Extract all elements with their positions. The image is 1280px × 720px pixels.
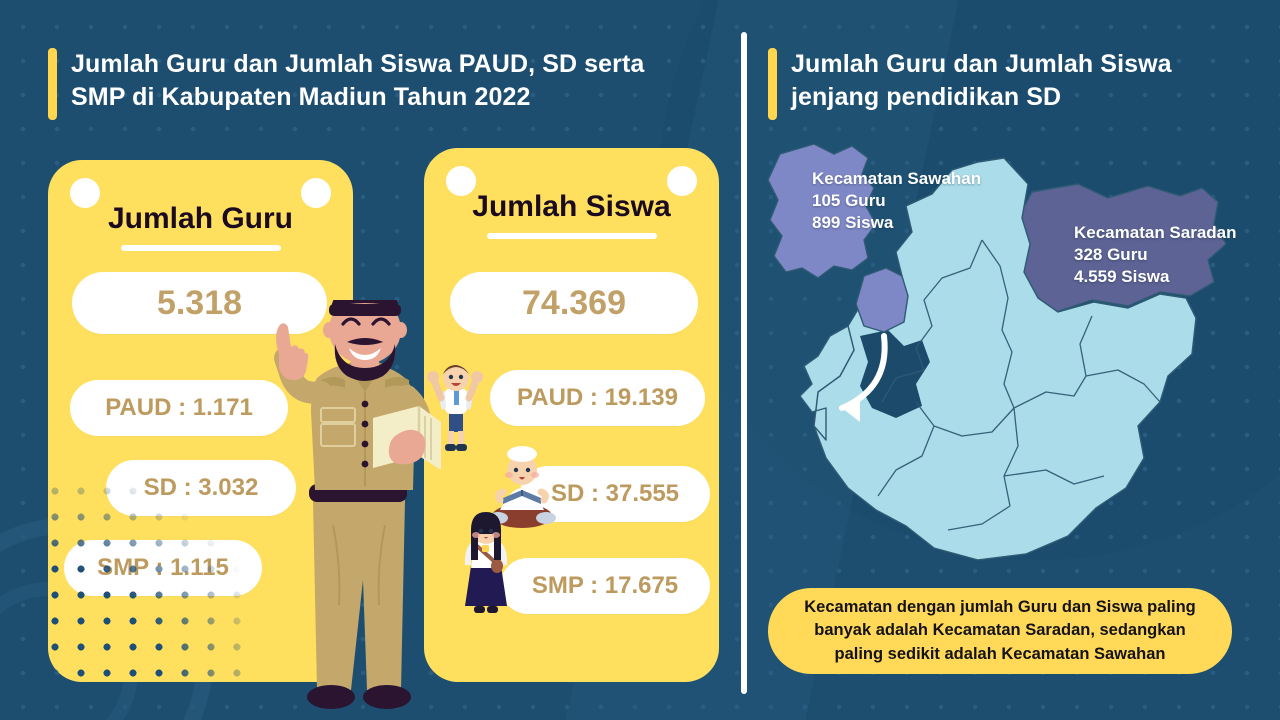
siswa-total-value: 74.369 — [450, 272, 698, 334]
map-label-saradan: Kecamatan Saradan 328 Guru 4.559 Siswa — [1074, 222, 1237, 288]
summary-note-text: Kecamatan dengan jumlah Guru dan Siswa p… — [804, 596, 1196, 666]
title-accent-bar — [48, 48, 57, 120]
left-panel-title: Jumlah Guru dan Jumlah Siswa PAUD, SD se… — [48, 48, 728, 120]
siswa-smp-value: SMP : 17.675 — [500, 558, 710, 614]
siswa-paud-value: PAUD : 19.139 — [490, 370, 705, 426]
title-accent-bar — [768, 48, 777, 120]
guru-smp-value: SMP : 1.115 — [64, 540, 262, 596]
card-guru-underline — [121, 245, 281, 251]
card-guru-heading: Jumlah Guru — [48, 202, 353, 236]
card-siswa-header: Jumlah Siswa — [424, 190, 719, 239]
map-kabupaten-madiun: Kecamatan Sawahan 105 Guru 899 Siswa Kec… — [756, 140, 1256, 570]
card-siswa-underline — [487, 233, 657, 239]
summary-note-box: Kecamatan dengan jumlah Guru dan Siswa p… — [768, 588, 1232, 674]
map-label-sawahan: Kecamatan Sawahan 105 Guru 899 Siswa — [812, 168, 981, 234]
right-panel-title: Jumlah Guru dan Jumlah Siswa jenjang pen… — [768, 48, 1238, 120]
infographic-canvas: Jumlah Guru dan Jumlah Siswa PAUD, SD se… — [0, 0, 1280, 720]
panel-divider — [741, 32, 747, 694]
card-guru-header: Jumlah Guru — [48, 202, 353, 251]
teacher-illustration — [255, 300, 485, 720]
right-title-text: Jumlah Guru dan Jumlah Siswa jenjang pen… — [791, 48, 1172, 114]
card-siswa-heading: Jumlah Siswa — [424, 190, 719, 224]
map-district-sawahan-sliver — [856, 268, 908, 332]
left-title-text: Jumlah Guru dan Jumlah Siswa PAUD, SD se… — [71, 48, 644, 114]
